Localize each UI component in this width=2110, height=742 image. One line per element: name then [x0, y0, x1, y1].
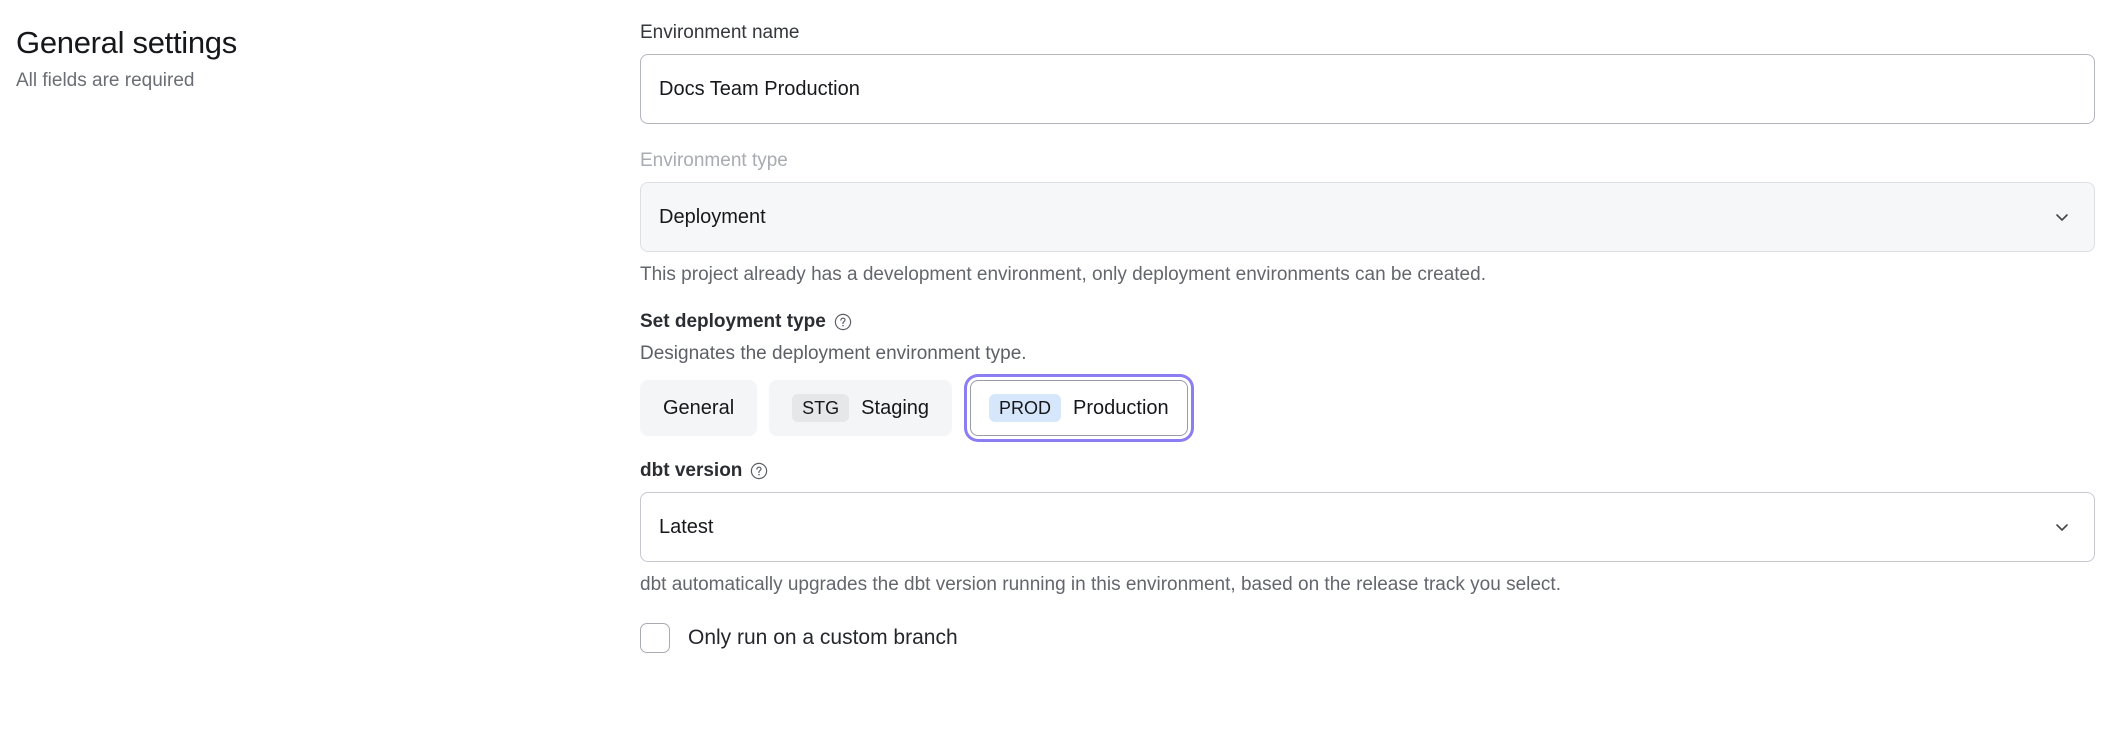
dbt-version-label: dbt version — [640, 458, 742, 484]
deployment-option-production-badge: PROD — [989, 394, 1061, 422]
deployment-option-staging-badge: STG — [792, 394, 849, 422]
settings-form: Environment name Docs Team Production En… — [640, 20, 2095, 653]
environment-type-field: Environment type Deployment This project… — [640, 148, 2095, 287]
page-title: General settings — [16, 24, 596, 62]
deployment-type-label: Set deployment type — [640, 309, 826, 335]
environment-type-select[interactable]: Deployment — [640, 182, 2095, 252]
deployment-option-general-label: General — [663, 397, 734, 420]
environment-name-input[interactable]: Docs Team Production — [640, 54, 2095, 124]
deployment-type-label-row: Set deployment type — [640, 309, 2095, 335]
environment-type-value: Deployment — [659, 206, 766, 229]
deployment-option-production-label: Production — [1073, 397, 1169, 420]
dbt-version-select[interactable]: Latest — [640, 492, 2095, 562]
environment-type-label: Environment type — [640, 148, 2095, 174]
dbt-version-field: dbt version Latest dbt automatica — [640, 458, 2095, 597]
environment-name-field: Environment name Docs Team Production — [640, 20, 2095, 124]
deployment-option-production[interactable]: PROD Production — [970, 380, 1188, 436]
settings-header: General settings All fields are required — [16, 24, 596, 93]
dbt-version-label-row: dbt version — [640, 458, 2095, 484]
environment-name-label: Environment name — [640, 20, 2095, 46]
environment-type-help-text: This project already has a development e… — [640, 262, 2095, 287]
dbt-version-help-text: dbt automatically upgrades the dbt versi… — [640, 572, 2095, 597]
deployment-option-staging-label: Staging — [861, 397, 929, 420]
deployment-option-general[interactable]: General — [640, 380, 757, 436]
custom-branch-label[interactable]: Only run on a custom branch — [688, 624, 958, 652]
dbt-version-value: Latest — [659, 516, 713, 539]
question-circle-icon[interactable] — [834, 313, 852, 331]
deployment-type-description: Designates the deployment environment ty… — [640, 341, 2095, 366]
deployment-option-staging[interactable]: STG Staging — [769, 380, 952, 436]
chevron-down-icon — [2052, 207, 2072, 227]
custom-branch-checkbox[interactable] — [640, 623, 670, 653]
chevron-down-icon — [2052, 517, 2072, 537]
general-settings-page: General settings All fields are required… — [0, 0, 2110, 742]
deployment-type-field: Set deployment type Designates the deplo… — [640, 309, 2095, 436]
question-circle-icon[interactable] — [750, 462, 768, 480]
custom-branch-row: Only run on a custom branch — [640, 623, 2095, 653]
deployment-type-options: General STG Staging PROD Production — [640, 380, 2095, 436]
page-subtitle: All fields are required — [16, 69, 596, 93]
